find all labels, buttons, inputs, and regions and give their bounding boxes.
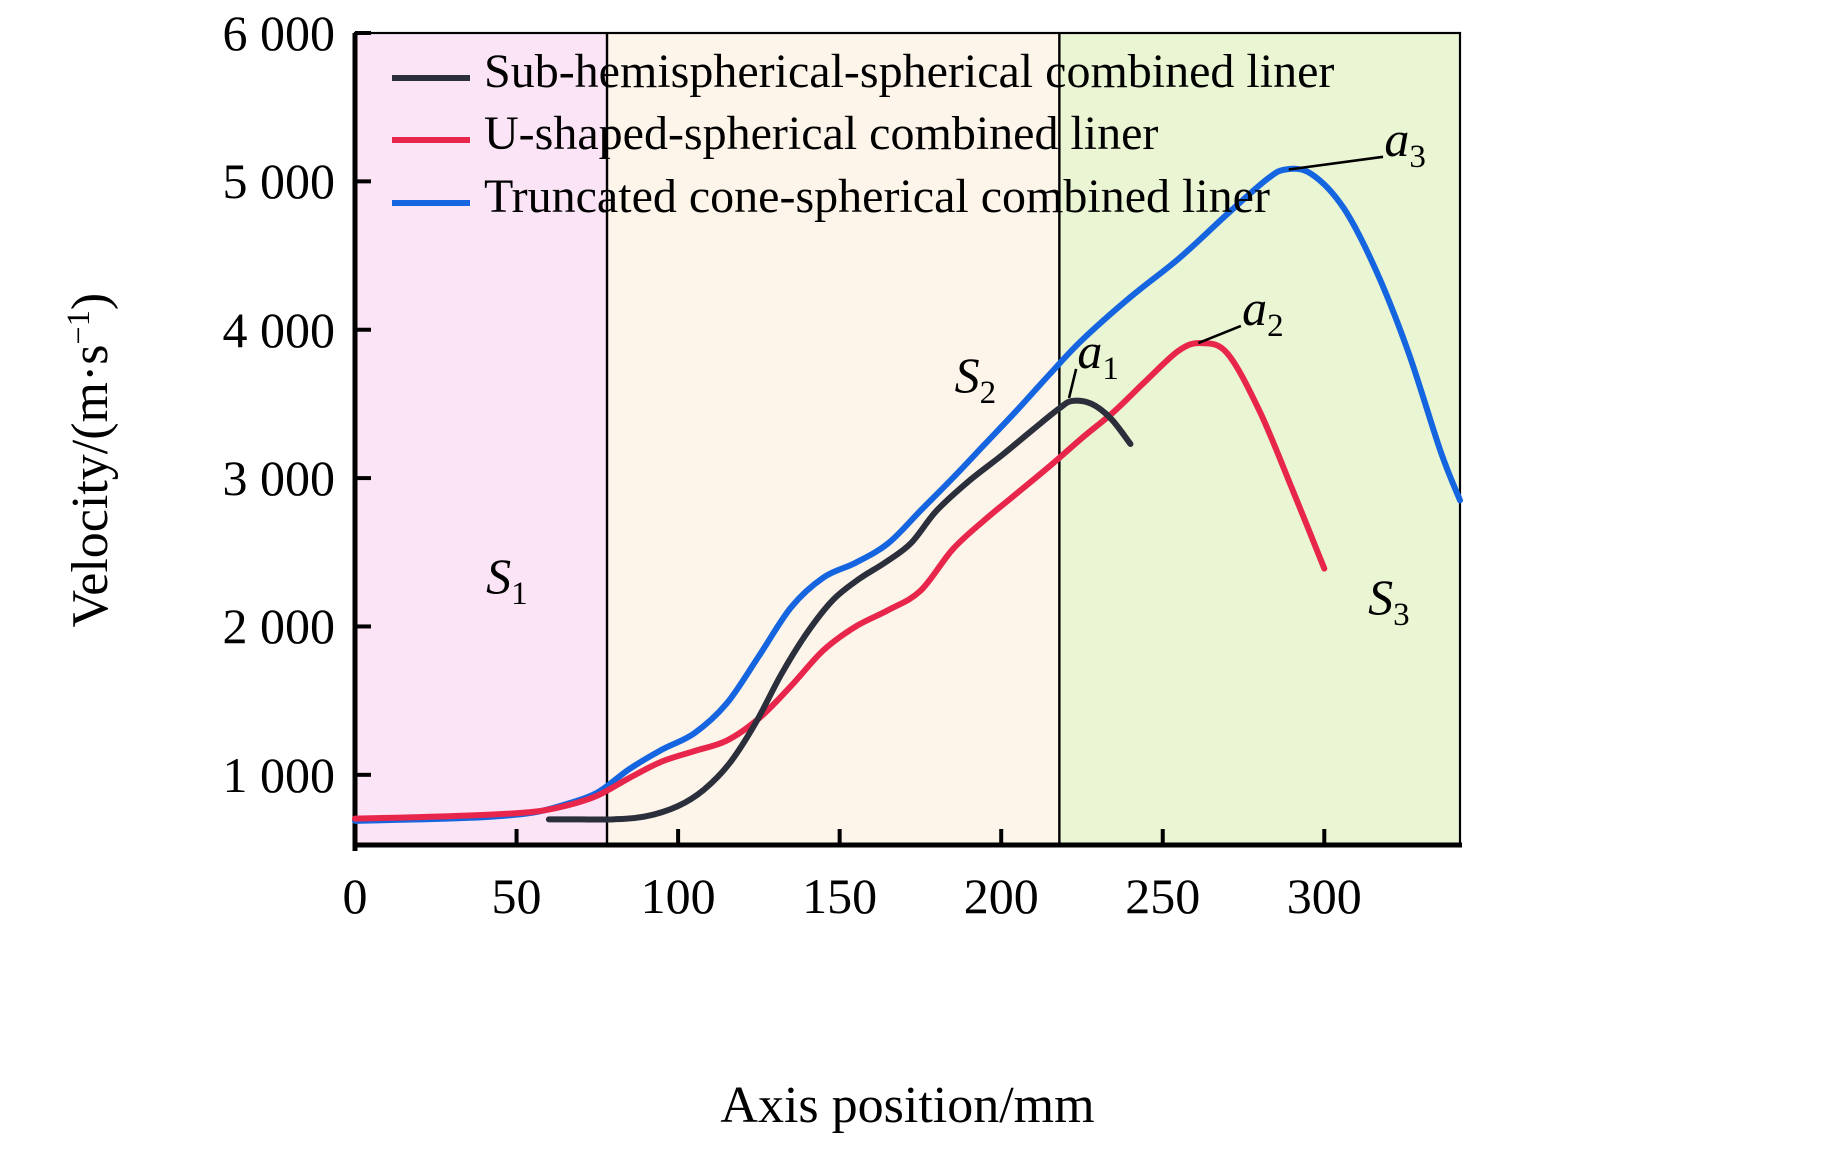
annotation-label-a1: a1 xyxy=(1077,322,1119,388)
y-tick-label: 6 000 xyxy=(135,4,335,62)
region-label-subscript: 3 xyxy=(1393,597,1410,633)
x-tick-label: 200 xyxy=(964,867,1039,925)
x-tick-label: 150 xyxy=(802,867,877,925)
legend-item-3: Truncated cone-spherical combined liner xyxy=(484,173,1270,221)
annotation-label-subscript: 3 xyxy=(1409,139,1426,175)
y-axis-title: Velocity/(m·s−1) xyxy=(60,200,120,720)
region-label-subscript: 2 xyxy=(980,375,997,411)
x-axis-title: Axis position/mm xyxy=(355,1076,1460,1135)
region-label-s3: S3 xyxy=(1368,568,1410,634)
chart-figure: Velocity/(m·s−1) Axis position/mm 1 0002… xyxy=(0,0,1843,1151)
legend-item-1: Sub-hemispherical-spherical combined lin… xyxy=(484,48,1334,96)
region-label-s2: S2 xyxy=(955,346,997,412)
x-tick-label: 100 xyxy=(641,867,716,925)
y-axis-title-main: Velocity/(m·s xyxy=(62,344,119,627)
x-tick-label: 50 xyxy=(492,867,542,925)
x-tick-label: 250 xyxy=(1125,867,1200,925)
y-tick-label: 3 000 xyxy=(135,449,335,507)
y-axis-title-exponent: −1 xyxy=(60,310,96,344)
annotation-label-letter: a xyxy=(1077,323,1102,379)
x-tick-label: 300 xyxy=(1287,867,1362,925)
y-tick-label: 5 000 xyxy=(135,152,335,210)
region-label-subscript: 1 xyxy=(511,576,528,612)
annotation-label-letter: a xyxy=(1242,280,1267,336)
y-axis-title-tail: ) xyxy=(62,293,119,310)
annotation-label-letter: a xyxy=(1384,111,1409,167)
y-tick-label: 4 000 xyxy=(135,301,335,359)
y-tick-label: 1 000 xyxy=(135,746,335,804)
region-label-letter: S xyxy=(1368,569,1393,625)
annotation-label-subscript: 1 xyxy=(1102,351,1119,387)
x-tick-label: 0 xyxy=(343,867,368,925)
annotation-label-a2: a2 xyxy=(1242,279,1284,345)
region-label-letter: S xyxy=(486,548,511,604)
y-tick-label: 2 000 xyxy=(135,597,335,655)
annotation-label-a3: a3 xyxy=(1384,110,1426,176)
legend-item-2: U-shaped-spherical combined liner xyxy=(484,110,1158,158)
region-label-s1: S1 xyxy=(486,547,528,613)
annotation-label-subscript: 2 xyxy=(1267,308,1284,344)
region-label-letter: S xyxy=(955,347,980,403)
